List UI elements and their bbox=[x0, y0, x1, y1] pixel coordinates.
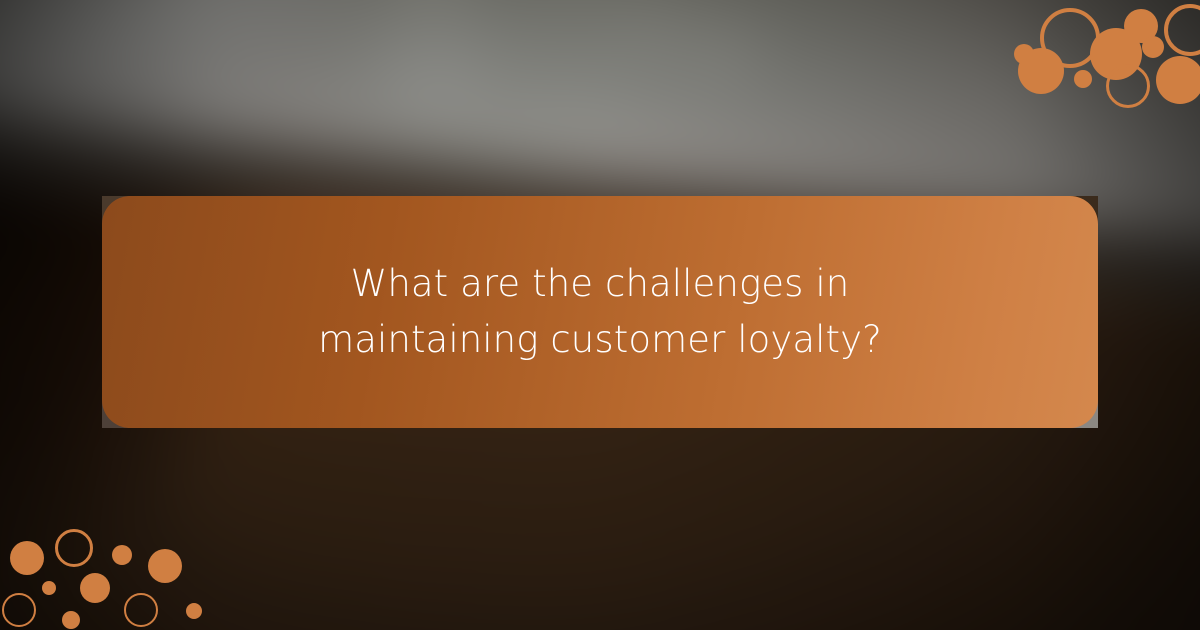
decorative-dot bbox=[10, 541, 44, 575]
quote-card-canvas: What are the challenges in maintaining c… bbox=[0, 0, 1200, 630]
corner-notch-top-right bbox=[1070, 196, 1098, 224]
decorative-dots-bottom-left bbox=[0, 515, 215, 630]
decorative-dot bbox=[186, 603, 202, 619]
decorative-dot bbox=[1142, 36, 1164, 58]
decorative-dots-top-right bbox=[1000, 0, 1200, 110]
decorative-dot bbox=[1164, 4, 1200, 56]
decorative-dot bbox=[1156, 56, 1200, 104]
decorative-dot bbox=[62, 611, 80, 629]
corner-notch-top-left bbox=[102, 196, 130, 224]
decorative-dot bbox=[1018, 48, 1064, 94]
quote-card: What are the challenges in maintaining c… bbox=[102, 196, 1098, 428]
decorative-dot bbox=[112, 545, 132, 565]
decorative-dot bbox=[124, 593, 158, 627]
decorative-dot bbox=[55, 529, 93, 567]
decorative-dot bbox=[1106, 64, 1150, 108]
decorative-dot bbox=[2, 593, 36, 627]
decorative-dot bbox=[80, 573, 110, 603]
decorative-dot bbox=[148, 549, 182, 583]
decorative-dot bbox=[1074, 70, 1092, 88]
corner-notch-bottom-left bbox=[102, 400, 130, 428]
quote-text: What are the challenges in maintaining c… bbox=[250, 256, 950, 368]
corner-notch-bottom-right bbox=[1070, 400, 1098, 428]
decorative-dot bbox=[42, 581, 56, 595]
